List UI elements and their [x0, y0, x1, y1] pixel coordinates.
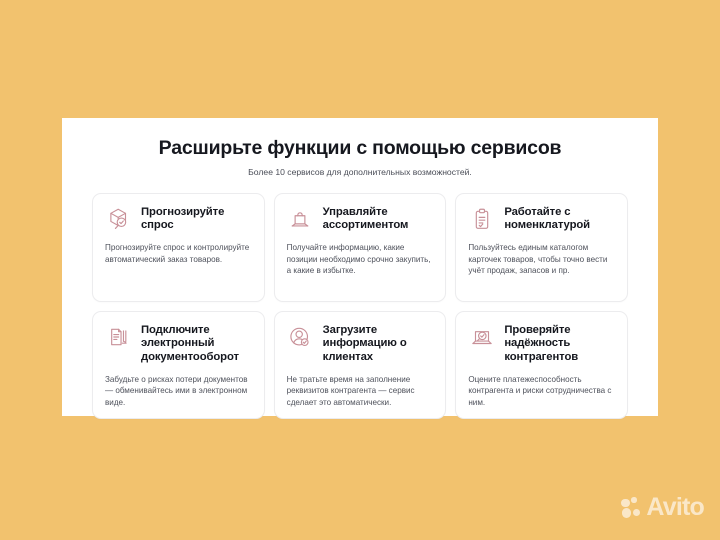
laptop-check-icon — [468, 324, 495, 351]
user-check-icon — [287, 324, 314, 351]
card-body: Получайте информацию, какие позиции необ… — [287, 242, 434, 276]
page-subtitle: Более 10 сервисов для дополнительных воз… — [92, 167, 628, 177]
card-title: Прогнозируйте спрос — [141, 205, 252, 234]
laptop-bag-icon — [287, 206, 314, 233]
card-title: Проверяйте надёжность контрагентов — [504, 323, 615, 365]
card-head: Подключите электронный документооборот — [105, 323, 252, 365]
card-head: Работайте с номенклатурой — [468, 205, 615, 234]
card-title: Управляйте ассортиментом — [323, 205, 434, 234]
card-title: Работайте с номенклатурой — [504, 205, 615, 234]
document-exchange-icon — [105, 324, 132, 351]
card-head: Загрузите информацию о клиентах — [287, 323, 434, 365]
service-card[interactable]: Управляйте ассортиментом Получайте инфор… — [274, 193, 447, 302]
service-card[interactable]: Загрузите информацию о клиентах Не трать… — [274, 311, 447, 420]
avito-logo-icon — [621, 497, 642, 518]
cube-search-icon — [105, 206, 132, 233]
avito-watermark: Avito — [621, 495, 704, 520]
card-body: Пользуйтесь единым каталогом карточек то… — [468, 242, 615, 276]
card-title: Подключите электронный документооборот — [141, 323, 252, 365]
card-body: Прогнозируйте спрос и контролируйте авто… — [105, 242, 252, 265]
service-card[interactable]: Прогнозируйте спрос Прогнозируйте спрос … — [92, 193, 265, 302]
panel-header: Расширьте функции с помощью сервисов Бол… — [92, 137, 628, 178]
card-head: Прогнозируйте спрос — [105, 205, 252, 234]
service-card-grid: Прогнозируйте спрос Прогнозируйте спрос … — [92, 193, 628, 420]
card-title: Загрузите информацию о клиентах — [323, 323, 434, 365]
card-body: Оцените платежеспособность контрагента и… — [468, 374, 615, 408]
card-head: Проверяйте надёжность контрагентов — [468, 323, 615, 365]
clipboard-check-icon — [468, 206, 495, 233]
page-title: Расширьте функции с помощью сервисов — [92, 137, 628, 160]
service-card[interactable]: Проверяйте надёжность контрагентов Оцени… — [455, 311, 628, 420]
card-head: Управляйте ассортиментом — [287, 205, 434, 234]
service-card[interactable]: Работайте с номенклатурой Пользуйтесь ед… — [455, 193, 628, 302]
avito-wordmark: Avito — [646, 495, 704, 520]
card-body: Не тратьте время на заполнение реквизито… — [287, 374, 434, 408]
card-body: Забудьте о рисках потери документов — об… — [105, 374, 252, 408]
service-card[interactable]: Подключите электронный документооборот З… — [92, 311, 265, 420]
promo-panel: Расширьте функции с помощью сервисов Бол… — [62, 118, 658, 416]
